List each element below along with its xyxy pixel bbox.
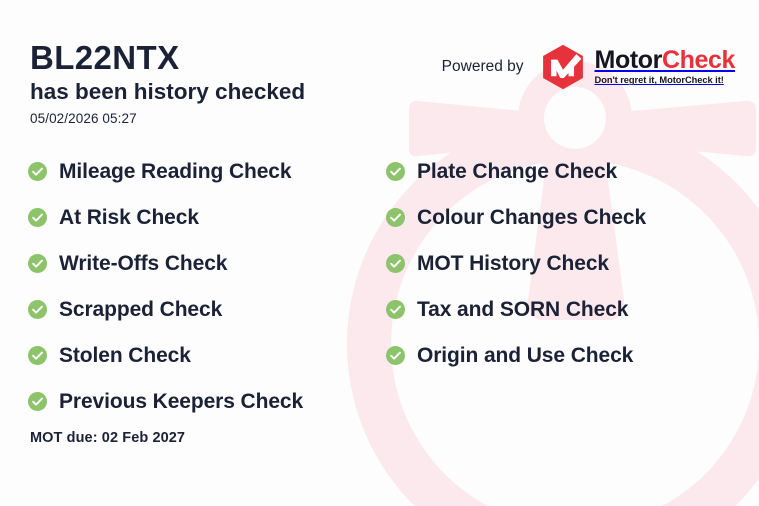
powered-by-label: Powered by — [442, 58, 524, 76]
logo-tagline: Don't regret it, MotorCheck it! — [595, 76, 735, 85]
logo-word-check: Check — [662, 46, 735, 74]
motorcheck-logo[interactable]: MotorCheck Don't regret it, MotorCheck i… — [540, 44, 735, 90]
list-item-label: Origin and Use Check — [417, 345, 633, 366]
check-circle-icon — [28, 300, 47, 319]
list-item: Write-Offs Check — [28, 240, 386, 286]
logo-word-motor: Motor — [595, 46, 662, 74]
logo-wordmark-group: MotorCheck Don't regret it, MotorCheck i… — [595, 48, 735, 85]
list-item: Scrapped Check — [28, 286, 386, 332]
list-item-label: Write-Offs Check — [59, 253, 227, 274]
checks-right-column: Plate Change Check Colour Changes Check … — [386, 148, 734, 378]
vehicle-history-check-banner: BL22NTX has been history checked 05/02/2… — [0, 0, 759, 506]
list-item: MOT History Check — [386, 240, 734, 286]
check-circle-icon — [386, 346, 405, 365]
list-item: Tax and SORN Check — [386, 286, 734, 332]
check-circle-icon — [386, 254, 405, 273]
list-item: Origin and Use Check — [386, 332, 734, 378]
check-circle-icon — [28, 208, 47, 227]
motorcheck-hexagon-m-check-icon — [540, 44, 586, 90]
check-circle-icon — [28, 162, 47, 181]
list-item-label: Tax and SORN Check — [417, 299, 628, 320]
check-circle-icon — [386, 300, 405, 319]
check-circle-icon — [28, 392, 47, 411]
checks-lists: Mileage Reading Check At Risk Check Writ… — [28, 148, 734, 424]
list-item: Colour Changes Check — [386, 194, 734, 240]
list-item: Stolen Check — [28, 332, 386, 378]
list-item-label: Plate Change Check — [417, 161, 617, 182]
vehicle-registration: BL22NTX — [30, 40, 440, 77]
list-item: Previous Keepers Check — [28, 378, 386, 424]
list-item-label: At Risk Check — [59, 207, 199, 228]
check-timestamp: 05/02/2026 05:27 — [30, 111, 440, 126]
list-item-label: Colour Changes Check — [417, 207, 646, 228]
list-item-label: Scrapped Check — [59, 299, 222, 320]
logo-wordmark: MotorCheck — [595, 48, 735, 73]
header-block: BL22NTX has been history checked 05/02/2… — [30, 40, 440, 126]
powered-by-row: Powered by MotorCheck Don't regret it, M… — [442, 44, 735, 90]
check-circle-icon — [386, 162, 405, 181]
check-circle-icon — [28, 346, 47, 365]
list-item-label: Mileage Reading Check — [59, 161, 291, 182]
list-item: Plate Change Check — [386, 148, 734, 194]
list-item: Mileage Reading Check — [28, 148, 386, 194]
checks-left-column: Mileage Reading Check At Risk Check Writ… — [28, 148, 386, 424]
check-circle-icon — [28, 254, 47, 273]
banner-content: BL22NTX has been history checked 05/02/2… — [0, 0, 759, 506]
list-item: At Risk Check — [28, 194, 386, 240]
list-item-label: MOT History Check — [417, 253, 609, 274]
page-title: has been history checked — [30, 79, 440, 106]
list-item-label: Previous Keepers Check — [59, 391, 303, 412]
check-circle-icon — [386, 208, 405, 227]
list-item-label: Stolen Check — [59, 345, 191, 366]
mot-due-note: MOT due: 02 Feb 2027 — [30, 430, 185, 446]
